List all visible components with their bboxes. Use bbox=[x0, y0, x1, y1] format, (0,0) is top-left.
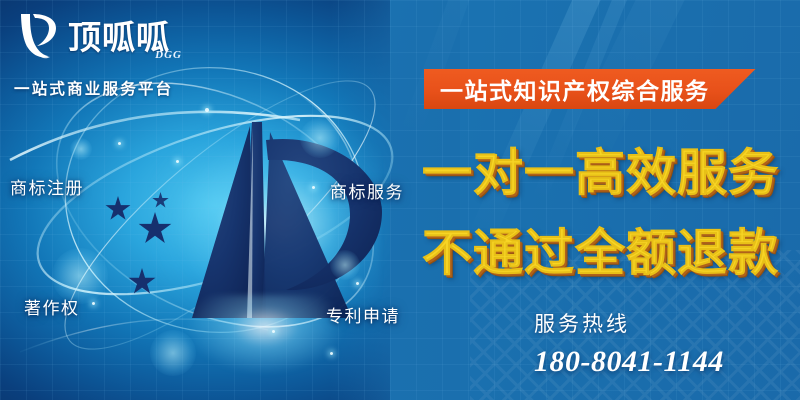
sparkle-dot bbox=[356, 282, 359, 285]
promotional-banner: 顶呱呱 DGG 一站式商业服务平台 商标注册 商标服务 著作权 专利申请 一站式… bbox=[0, 0, 800, 400]
logo-tagline: 一站式商业服务平台 bbox=[14, 77, 204, 99]
service-label-trademark-registration[interactable]: 商标注册 bbox=[10, 174, 84, 199]
promo-ribbon: 一站式知识产权综合服务 bbox=[424, 69, 756, 109]
promo-headline-line1: 一对一高效服务 bbox=[422, 148, 779, 198]
sparkle-dot bbox=[205, 108, 209, 112]
service-label-trademark-service[interactable]: 商标服务 bbox=[330, 178, 404, 203]
service-label-copyright[interactable]: 著作权 bbox=[24, 294, 80, 319]
sparkle-dot bbox=[92, 302, 95, 305]
hotline-number[interactable]: 180-8041-1144 bbox=[534, 345, 724, 379]
bottom-glow bbox=[185, 295, 345, 375]
logo-wordmark-text: 顶呱呱 bbox=[68, 17, 170, 54]
logo-latin-mark: DGG bbox=[155, 49, 182, 75]
sparkle-dot bbox=[176, 160, 179, 163]
dgg-leaf-logo-icon bbox=[14, 8, 66, 62]
hotline-label: 服务热线 bbox=[534, 308, 630, 338]
service-label-patent-application[interactable]: 专利申请 bbox=[326, 302, 400, 327]
brand-logo[interactable]: 顶呱呱 DGG 一站式商业服务平台 bbox=[14, 8, 204, 99]
sparkle-dot bbox=[118, 142, 121, 145]
sparkle-dot bbox=[312, 186, 315, 189]
sparkle-dot bbox=[330, 352, 333, 355]
promo-ribbon-text: 一站式知识产权综合服务 bbox=[440, 72, 710, 106]
promo-headline-line2: 不通过全额退款 bbox=[422, 228, 779, 278]
sparkle-dot bbox=[272, 330, 275, 333]
patent-p-emblem-shape bbox=[192, 122, 382, 318]
